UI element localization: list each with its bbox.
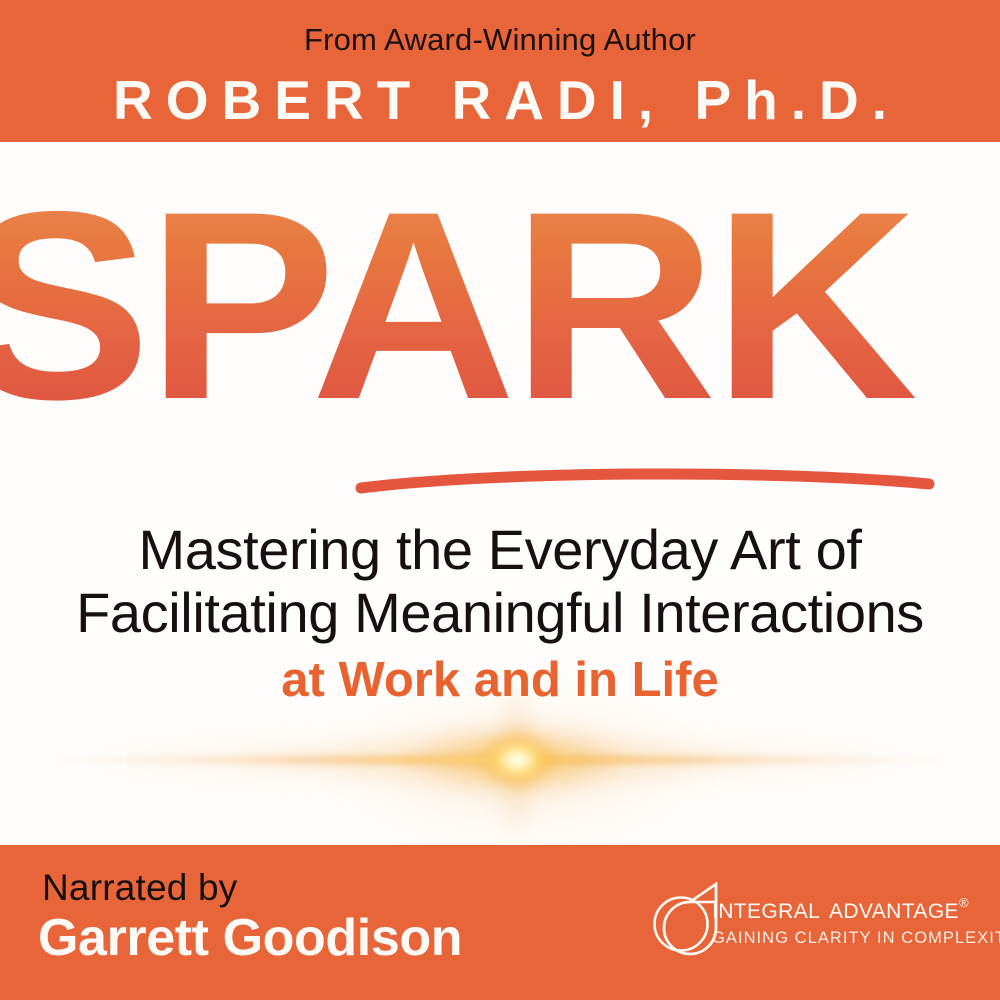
- logo-name-row: Integral Advantage®: [712, 886, 988, 926]
- audiobook-cover: From Award-Winning Author ROBERT RADI, P…: [0, 0, 1000, 1000]
- subtitle-block: Mastering the Everyday Art of Facilitati…: [0, 518, 1000, 708]
- subtitle-line-3-accent: at Work and in Life: [0, 652, 1000, 708]
- logo-wordmark: Integral Advantage® GAINING CLARITY IN C…: [712, 886, 988, 948]
- spark-horizontal-ray: [20, 752, 980, 768]
- author-byline: From Award-Winning Author: [0, 22, 1000, 58]
- logo-name: Integral Advantage: [712, 892, 959, 925]
- spark-horizontal-glow: [60, 736, 940, 784]
- title-block: SPARK IT!: [0, 175, 1000, 435]
- logo-tagline: GAINING CLARITY IN COMPLEXITY: [712, 928, 988, 948]
- spark-core: [474, 730, 560, 790]
- author-name: ROBERT RADI, Ph.D.: [0, 69, 1000, 131]
- registered-mark-icon: ®: [959, 895, 969, 910]
- narrator-name: Garrett Goodison: [38, 908, 462, 968]
- publisher-logo: Integral Advantage® GAINING CLARITY IN C…: [646, 872, 986, 968]
- spark-halo: [330, 690, 706, 840]
- narrated-by-label: Narrated by: [42, 866, 238, 910]
- spark-diamond: [400, 722, 632, 798]
- curved-divider-icon: [355, 462, 935, 498]
- subtitle-line-1: Mastering the Everyday Art of: [0, 518, 1000, 581]
- subtitle-line-2: Facilitating Meaningful Interactions: [0, 581, 1000, 644]
- book-title: SPARK IT!: [0, 175, 1000, 435]
